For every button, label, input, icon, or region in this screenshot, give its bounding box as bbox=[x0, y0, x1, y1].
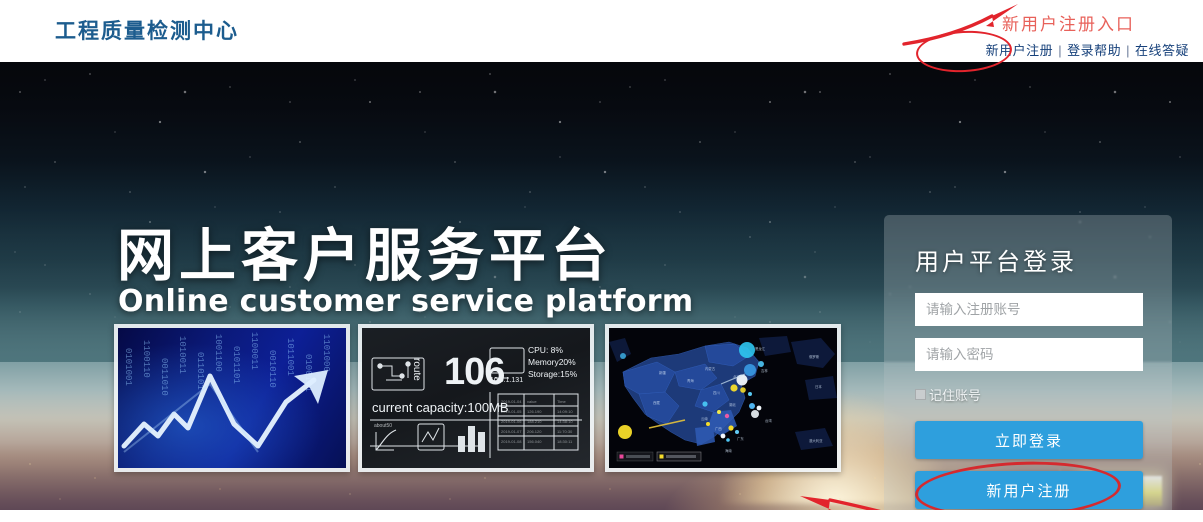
svg-text:14:38:10: 14:38:10 bbox=[557, 419, 573, 424]
card-server-infographic[interactable]: 106 route CPU: 8% Memory20% Storage:15% … bbox=[358, 324, 594, 472]
hero-title-en: Online customer service platform bbox=[118, 287, 693, 317]
svg-text:海南: 海南 bbox=[725, 448, 732, 453]
svg-text:2019-01-08: 2019-01-08 bbox=[501, 439, 522, 444]
svg-text:1100011: 1100011 bbox=[249, 332, 259, 370]
svg-text:0011010: 0011010 bbox=[159, 358, 169, 396]
server-infographic-icon: 106 route CPU: 8% Memory20% Storage:15% … bbox=[362, 328, 590, 468]
svg-text:广西: 广西 bbox=[715, 426, 722, 431]
svg-text:澳大利亚: 澳大利亚 bbox=[809, 438, 823, 443]
svg-text:188.210: 188.210 bbox=[527, 419, 542, 424]
svg-text:156.040: 156.040 bbox=[527, 439, 542, 444]
password-input[interactable] bbox=[915, 338, 1143, 371]
annotation-top-label: 新用户注册入口 bbox=[1002, 10, 1135, 35]
card-growth-chart[interactable]: 0101001 1100110 0011010 1010011 0110101 … bbox=[114, 324, 350, 472]
svg-text:1101000: 1101000 bbox=[321, 334, 331, 372]
page-footer bbox=[0, 510, 1203, 522]
svg-text:云南: 云南 bbox=[701, 416, 708, 421]
svg-text:四川: 四川 bbox=[713, 391, 720, 395]
china-map-icon: 新疆青海西藏 内蒙古黑龙江吉林 北京四川湖北 云南广西广东 海南俄罗斯日本 澳大… bbox=[609, 328, 837, 468]
remember-account-label: 记住账号 bbox=[929, 385, 981, 404]
nav-separator-1: | bbox=[1053, 43, 1067, 58]
hero-banner: 网上客户服务平台 Online customer service platfor… bbox=[0, 62, 1203, 510]
svg-text:2019-01-05: 2019-01-05 bbox=[501, 409, 522, 414]
svg-text:0101001: 0101001 bbox=[123, 348, 133, 386]
svg-text:青海: 青海 bbox=[687, 378, 694, 383]
login-panel: 用户平台登录 记住账号 立即登录 新用户注册 bbox=[884, 215, 1172, 510]
svg-text:2019-01-06: 2019-01-06 bbox=[501, 419, 522, 424]
svg-text:Memory20%: Memory20% bbox=[528, 357, 576, 367]
svg-text:北京: 北京 bbox=[733, 374, 740, 379]
svg-text:about50: about50 bbox=[374, 423, 392, 429]
svg-text:日本: 日本 bbox=[815, 384, 822, 389]
svg-text:湖北: 湖北 bbox=[729, 402, 736, 407]
remember-account-row[interactable]: 记住账号 bbox=[915, 385, 981, 404]
svg-text:206.120: 206.120 bbox=[527, 429, 542, 434]
svg-text:台湾: 台湾 bbox=[765, 418, 772, 423]
svg-text:新疆: 新疆 bbox=[659, 370, 666, 375]
svg-text:14:09:10: 14:09:10 bbox=[557, 409, 573, 414]
svg-text:内蒙古: 内蒙古 bbox=[705, 366, 716, 371]
svg-text:0110101: 0110101 bbox=[195, 352, 205, 390]
login-button[interactable]: 立即登录 bbox=[915, 421, 1143, 459]
svg-text:广东: 广东 bbox=[737, 436, 744, 441]
card-china-map[interactable]: 新疆青海西藏 内蒙古黑龙江吉林 北京四川湖北 云南广西广东 海南俄罗斯日本 澳大… bbox=[605, 324, 841, 472]
svg-text:126.190: 126.190 bbox=[527, 409, 542, 414]
account-input[interactable] bbox=[915, 293, 1143, 326]
svg-text:CPU: 8%: CPU: 8% bbox=[528, 345, 563, 355]
svg-text:1011001: 1011001 bbox=[285, 338, 295, 376]
svg-text:18:30:11: 18:30:11 bbox=[557, 439, 573, 444]
svg-text:1100110: 1100110 bbox=[141, 340, 151, 378]
svg-text:黑龙江: 黑龙江 bbox=[755, 346, 766, 351]
nav-separator-2: | bbox=[1121, 43, 1135, 58]
svg-text:Time: Time bbox=[557, 399, 567, 404]
svg-text:吉林: 吉林 bbox=[761, 368, 768, 373]
remember-checkbox[interactable] bbox=[915, 389, 926, 400]
svg-text:2019-01-04: 2019-01-04 bbox=[501, 399, 522, 404]
svg-text:current capacity:100MB: current capacity:100MB bbox=[372, 400, 509, 415]
hero-title-cn: 网上客户服务平台 bbox=[117, 228, 613, 285]
svg-text:0010110: 0010110 bbox=[267, 350, 277, 388]
nav-register-link[interactable]: 新用户注册 bbox=[986, 44, 1054, 59]
header-nav: 新用户注册|登录帮助|在线答疑 bbox=[986, 40, 1189, 59]
svg-text:value: value bbox=[527, 399, 537, 404]
svg-text:11:70:30: 11:70:30 bbox=[557, 429, 573, 434]
page-header: 工程质量检测中心 新用户注册|登录帮助|在线答疑 新用户注册入口 bbox=[0, 0, 1203, 62]
svg-text:1010011: 1010011 bbox=[177, 336, 187, 374]
login-panel-title: 用户平台登录 bbox=[915, 242, 1077, 277]
svg-text:1001100: 1001100 bbox=[213, 334, 223, 372]
nav-help-link[interactable]: 登录帮助 bbox=[1067, 44, 1121, 59]
growth-arrow-icon: 0101001 1100110 0011010 1010011 0110101 … bbox=[118, 328, 346, 468]
site-title: 工程质量检测中心 bbox=[55, 15, 239, 45]
svg-text:2019-01-07: 2019-01-07 bbox=[501, 429, 522, 434]
svg-text:Storage:15%: Storage:15% bbox=[528, 369, 578, 379]
nav-qa-link[interactable]: 在线答疑 bbox=[1135, 44, 1189, 59]
svg-text:0101101: 0101101 bbox=[231, 346, 241, 384]
svg-text:route: route bbox=[411, 358, 422, 381]
svg-text:10.0.1.131: 10.0.1.131 bbox=[490, 377, 523, 384]
svg-text:俄罗斯: 俄罗斯 bbox=[809, 354, 820, 359]
svg-text:西藏: 西藏 bbox=[653, 400, 660, 405]
register-button[interactable]: 新用户注册 bbox=[915, 471, 1143, 509]
svg-text:106: 106 bbox=[444, 351, 504, 393]
